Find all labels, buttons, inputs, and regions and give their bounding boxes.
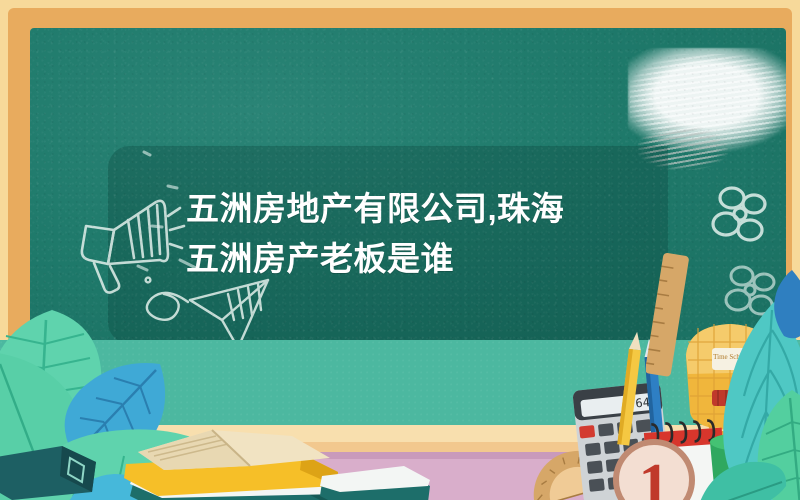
- book-teal-icon: [316, 462, 436, 500]
- headline-line-1: 五洲房地产有限公司,珠海: [186, 184, 656, 234]
- chalk-flower-icon: [702, 180, 782, 258]
- magnifier-number: 1: [639, 452, 670, 500]
- banner-image: 五洲房地产有限公司,珠海 五洲房产老板是谁: [0, 0, 800, 500]
- leaf-right-small-icon: [692, 456, 792, 500]
- notebook-dark-icon: [0, 440, 150, 500]
- leaf-sprout-icon: [556, 408, 612, 478]
- leaf-right-blue-icon: [770, 268, 800, 344]
